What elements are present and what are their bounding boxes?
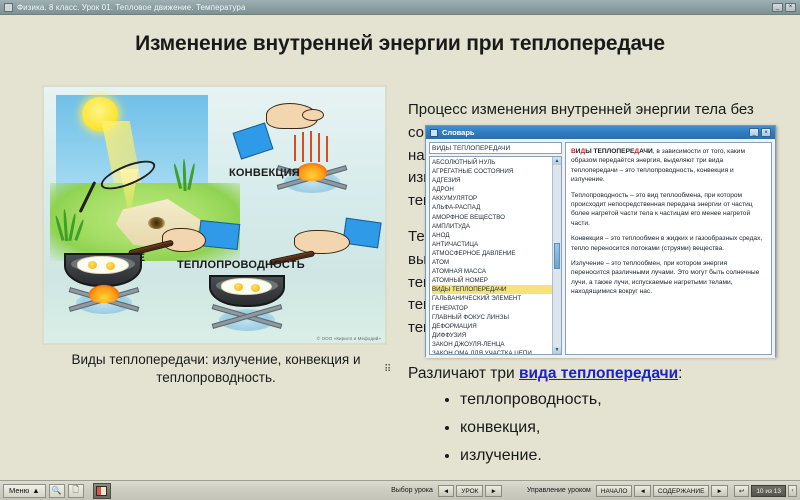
- lead-prefix: Различают три: [408, 365, 519, 382]
- dictionary-term-item[interactable]: ГЕНЕРАТОР: [432, 304, 552, 313]
- heat-ray: [318, 133, 320, 162]
- dictionary-window-controls: _ ×: [749, 128, 773, 137]
- heat-transfer-illustration: ИЗЛУЧЕНИЕ КОНВЕКЦИЯ: [42, 85, 387, 345]
- article-paragraph-3: Конвекция – это теплообмен в жидких и га…: [571, 234, 766, 253]
- dictionary-scrollbar[interactable]: ▲ ▼: [552, 157, 561, 354]
- heat-ray: [302, 132, 304, 162]
- menu-label: Меню: [9, 486, 29, 495]
- dictionary-term-item[interactable]: АДГЕЗИЯ: [432, 176, 552, 185]
- dictionary-term-item[interactable]: ЗАКОН ОМА ДЛЯ УЧАСТКА ЦЕПИ: [432, 349, 552, 354]
- search-icon[interactable]: 🔍: [49, 484, 65, 498]
- dictionary-term-item[interactable]: ГАЛЬВАНИЧЕСКИЙ ЭЛЕМЕНТ: [432, 294, 552, 303]
- close-icon[interactable]: ×: [785, 3, 796, 12]
- dictionary-title: Словарь: [442, 128, 475, 137]
- bottom-toolbar: Меню ▲ 🔍 🗋 Выбор урока ◄ УРОК ► Управлен…: [0, 480, 800, 500]
- fried-egg: [77, 256, 129, 274]
- dictionary-term-item[interactable]: АБСОЛЮТНЫЙ НУЛЬ: [432, 158, 552, 167]
- contents-button[interactable]: СОДЕРЖАНИЕ: [653, 485, 710, 497]
- dictionary-dialog[interactable]: Словарь _ × ВИДЫ ТЕПЛОПЕРЕДАЧИ АБСОЛЮТНЫ…: [425, 125, 776, 357]
- dictionary-term-list[interactable]: АБСОЛЮТНЫЙ НУЛЬАГРЕГАТНЫЕ СОСТОЯНИЯАДГЕЗ…: [430, 157, 552, 354]
- heat-transfer-types-list: теплопроводность, конвекция, излучение.: [436, 387, 776, 471]
- dictionary-icon[interactable]: [93, 483, 111, 499]
- dictionary-term-item[interactable]: АГРЕГАТНЫЕ СОСТОЯНИЯ: [432, 167, 552, 176]
- copy-icon[interactable]: 🗋: [68, 484, 84, 498]
- sleeve: [233, 122, 274, 159]
- fingers: [302, 109, 324, 121]
- lesson-prev-button[interactable]: ◄: [438, 485, 454, 497]
- book-glyph: [96, 486, 107, 496]
- window-title-bar: Физика. 8 класс. Урок 01. Тепловое движе…: [0, 0, 800, 15]
- article-paragraph-2: Теплопроводность – это вид теплообмена, …: [571, 191, 766, 229]
- menu-button[interactable]: Меню ▲: [3, 484, 46, 498]
- dictionary-left-pane: ВИДЫ ТЕПЛОПЕРЕДАЧИ АБСОЛЮТНЫЙ НУЛЬАГРЕГА…: [429, 142, 562, 355]
- dictionary-term-item[interactable]: АТОМ: [432, 258, 552, 267]
- list-item: излучение.: [460, 443, 776, 469]
- lesson-select-group: Выбор урока ◄ УРОК ►: [391, 485, 502, 497]
- page-title: Изменение внутренней энергии при теплопе…: [0, 32, 800, 56]
- hand: [294, 230, 350, 254]
- dictionary-search-input[interactable]: ВИДЫ ТЕПЛОПЕРЕДАЧИ: [429, 142, 562, 154]
- chevron-up-icon: ▲: [32, 486, 39, 495]
- close-icon[interactable]: ×: [761, 128, 771, 137]
- resize-handle[interactable]: ⠿: [384, 367, 392, 372]
- lesson-control-label: Управление уроком: [527, 487, 591, 494]
- page-counter: 10 из 13: [751, 485, 786, 497]
- copyright-notice: © ООО «Кирилл и Мефодий»: [317, 336, 381, 341]
- heat-ray: [310, 131, 312, 162]
- scroll-down-icon[interactable]: ▼: [553, 346, 561, 354]
- heat-ray: [326, 136, 328, 162]
- illustration-caption: Виды теплопередачи: излучение, конвекция…: [38, 351, 394, 387]
- lead-suffix: :: [678, 365, 682, 382]
- dictionary-term-item[interactable]: АТМОСФЕРНОЕ ДАВЛЕНИЕ: [432, 249, 552, 258]
- slide-canvas: Изменение внутренней энергии при теплопе…: [0, 15, 800, 480]
- egg-yolk: [234, 283, 243, 291]
- window-controls: _ ×: [772, 3, 798, 12]
- list-item: конвекция,: [460, 415, 776, 441]
- dictionary-term-item[interactable]: АМПЛИТУДА: [432, 222, 552, 231]
- lesson-control-group: Управление уроком НАЧАЛО ◄ СОДЕРЖАНИЕ ► …: [527, 485, 797, 497]
- lesson-next-button[interactable]: ►: [485, 485, 501, 497]
- minimize-icon[interactable]: _: [772, 3, 783, 12]
- egg-yolk: [251, 284, 260, 292]
- dictionary-term-item[interactable]: АККУМУЛЯТОР: [432, 194, 552, 203]
- collapse-toolbar-button[interactable]: ‹: [788, 485, 797, 497]
- dictionary-icon: [430, 129, 438, 137]
- burn-spot: [148, 217, 165, 229]
- dictionary-body: ВИДЫ ТЕПЛОПЕРЕДАЧИ АБСОЛЮТНЫЙ НУЛЬАГРЕГА…: [426, 139, 775, 358]
- heat-ray: [294, 135, 296, 161]
- presentation-window: Физика. 8 класс. Урок 01. Тепловое движе…: [0, 0, 800, 500]
- prev-slide-button[interactable]: ◄: [634, 485, 650, 497]
- dictionary-term-item[interactable]: ДИФФУЗИЯ: [432, 331, 552, 340]
- minimize-icon[interactable]: _: [749, 128, 759, 137]
- dictionary-term-item[interactable]: ГЛАВНЫЙ ФОКУС ЛИНЗЫ: [432, 313, 552, 322]
- egg-yolk: [88, 261, 97, 269]
- flame-icon: [89, 285, 119, 303]
- lesson-button[interactable]: УРОК: [456, 485, 483, 497]
- dictionary-term-item[interactable]: ЗАКОН ДЖОУЛЯ-ЛЕНЦА: [432, 340, 552, 349]
- dictionary-article-pane: ВИДЫ ТЕПЛОПЕРЕДАЧИ, в зависимости от тог…: [565, 142, 772, 355]
- egg-yolk: [106, 262, 115, 270]
- app-icon: [4, 3, 13, 12]
- scroll-up-icon[interactable]: ▲: [553, 157, 561, 165]
- dictionary-term-item[interactable]: АЛЬФА-РАСПАД: [432, 203, 552, 212]
- dictionary-term-item[interactable]: ДЕФОРМАЦИЯ: [432, 322, 552, 331]
- dictionary-term-item[interactable]: АТОМНАЯ МАССА: [432, 267, 552, 276]
- flame-icon: [297, 163, 327, 181]
- window-title: Физика. 8 класс. Урок 01. Тепловое движе…: [17, 3, 246, 12]
- dictionary-list-container: АБСОЛЮТНЫЙ НУЛЬАГРЕГАТНЫЕ СОСТОЯНИЯАДГЕЗ…: [429, 156, 562, 355]
- label-conduction: ТЕПЛОПРОВОДНОСТЬ: [177, 259, 305, 271]
- back-arrow-icon[interactable]: ↩: [734, 485, 749, 497]
- scrollbar-thumb[interactable]: [554, 243, 560, 269]
- fried-egg: [221, 278, 272, 295]
- dictionary-term-item[interactable]: АНОД: [432, 231, 552, 240]
- dictionary-term-item[interactable]: АДРОН: [432, 185, 552, 194]
- label-convection: КОНВЕКЦИЯ: [229, 167, 300, 179]
- dictionary-term-item[interactable]: АНТИЧАСТИЦА: [432, 240, 552, 249]
- article-paragraph-1: ВИДЫ ТЕПЛОПЕРЕДАЧИ, в зависимости от тог…: [571, 147, 766, 185]
- dictionary-term-item[interactable]: АТОМНЫЙ НОМЕР: [432, 276, 552, 285]
- article-term: ВИДЫ ТЕПЛОПЕРЕДАЧИ: [571, 148, 653, 155]
- types-lead-line: Различают три вида теплопередачи:: [408, 365, 778, 383]
- list-item: теплопроводность,: [460, 387, 776, 413]
- dictionary-term-item[interactable]: АМОРФНОЕ ВЕЩЕСТВО: [432, 213, 552, 222]
- dictionary-title-bar[interactable]: Словарь _ ×: [426, 126, 775, 139]
- dictionary-term-item[interactable]: ВИДЫ ТЕПЛОПЕРЕДАЧИ: [432, 285, 552, 294]
- start-button[interactable]: НАЧАЛО: [596, 485, 633, 497]
- heat-transfer-types-link[interactable]: вида теплопередачи: [519, 365, 678, 382]
- lesson-select-label: Выбор урока: [391, 487, 433, 494]
- article-paragraph-4: Излучение – это теплообмен, при котором …: [571, 259, 766, 297]
- next-slide-button[interactable]: ►: [711, 485, 727, 497]
